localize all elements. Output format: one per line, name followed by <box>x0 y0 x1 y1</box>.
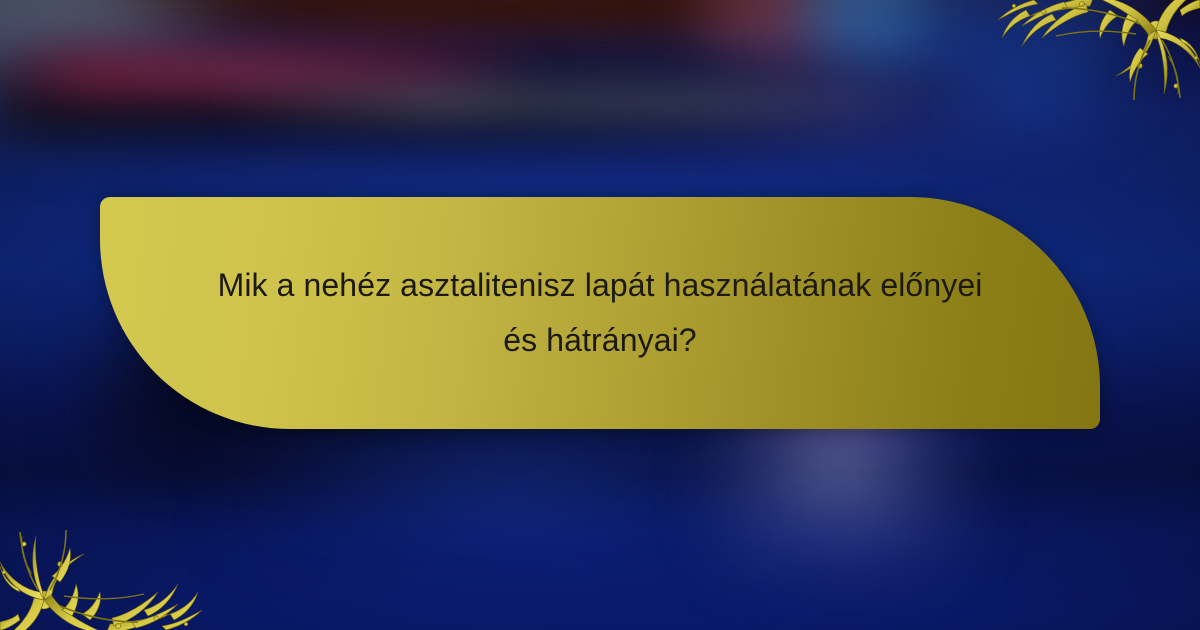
question-text: Mik a nehéz asztalitenisz lapát használa… <box>200 258 1000 368</box>
question-card: Mik a nehéz asztalitenisz lapát használa… <box>100 197 1100 429</box>
question-card-graphic: Mik a nehéz asztalitenisz lapát használa… <box>0 0 1200 630</box>
